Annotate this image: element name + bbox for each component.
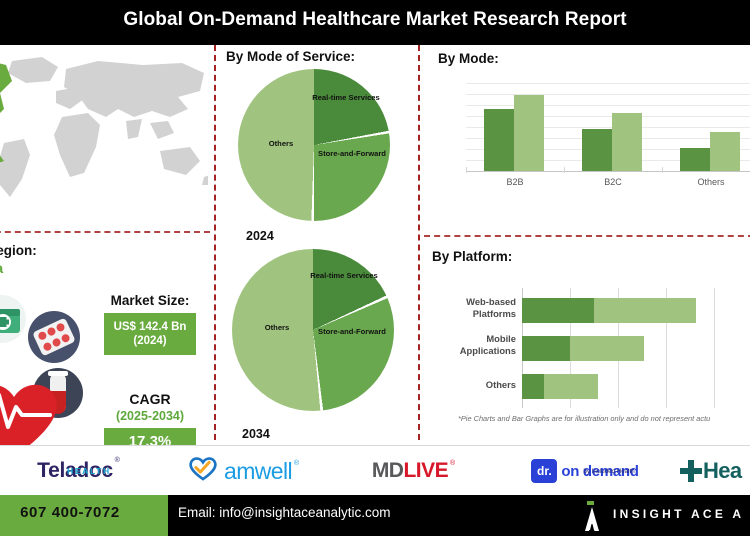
platform-category-label: Web-based Platforms [438, 296, 516, 320]
first-aid-kit-icon [0, 295, 26, 343]
pie-2024-year: 2024 [246, 229, 274, 243]
bar-section-title: By Mode: [438, 51, 499, 66]
platform-category-label: Others [438, 379, 516, 391]
header-bar: Global On-Demand Healthcare Market Resea… [0, 0, 750, 45]
pie-section-title: By Mode of Service: [226, 49, 355, 64]
hbar-mobile-series1 [522, 336, 570, 361]
pie-2034-label-realtime: Real-time Services [306, 271, 382, 281]
divider-vertical-right [418, 45, 420, 440]
pie-2024-label-others: Others [252, 139, 310, 149]
teladoc-logo: Teladoc ® HEALTH [0, 446, 150, 496]
amwell-logo: amwell ® [150, 446, 330, 496]
axis-tick [662, 167, 663, 173]
market-size-value: US$ 142.4 Bn [114, 320, 187, 334]
gridline [466, 83, 750, 84]
region-name: merica [0, 260, 3, 276]
dr-badge-icon: dr. [531, 459, 557, 483]
amwell-wordmark: amwell [224, 458, 292, 484]
platform-section-title: By Platform: [432, 249, 512, 264]
registered-mark-icon: ® [450, 460, 455, 467]
included-health-sub: by Included Health [583, 468, 634, 475]
x-axis-line [466, 171, 750, 172]
bar-b2b-series1 [484, 109, 514, 171]
market-size-badge: US$ 142.4 Bn (2024) [104, 313, 196, 355]
pie-2024-label-realtime: Real-time Services [308, 93, 384, 103]
market-size-heading: Market Size: [96, 293, 204, 308]
healthtap-wordmark: Hea [703, 458, 742, 484]
mdlive-md-text: MD [372, 459, 404, 482]
chart-footnote-text: *Pie Charts and Bar Graphs are for illus… [458, 414, 710, 423]
hbar-others-series2 [544, 374, 598, 399]
dr-on-demand-logo: dr. on demand by Included Health [490, 446, 680, 496]
mdlive-logo: MDLIVE ® [330, 446, 490, 496]
hbar-others-series1 [522, 374, 544, 399]
client-logo-strip: Teladoc ® HEALTH amwell ® MDLIVE ® [0, 445, 750, 496]
bar-chart-by-platform [522, 288, 750, 408]
pie-2034-year: 2034 [242, 427, 270, 441]
bar-category-label: B2B [480, 177, 550, 187]
axis-tick [564, 167, 565, 173]
bar-others-series2 [710, 132, 740, 171]
bar-others-series1 [680, 148, 710, 171]
footer-phone: 607 400-7072 [0, 504, 170, 521]
infographic-page: Global On-Demand Healthcare Market Resea… [0, 0, 750, 536]
gridline [714, 288, 715, 408]
pill-blister-icon [28, 311, 80, 363]
bar-chart-by-mode: B2B B2C Others [466, 83, 750, 171]
mdlive-live-text: LIVE [403, 459, 448, 482]
cagr-years: (2025-2034) [96, 409, 204, 423]
hbar-mobile-series2 [570, 336, 644, 361]
amwell-heart-check-icon [188, 455, 218, 487]
bar-b2b-series2 [514, 95, 544, 171]
cagr-heading: CAGR [96, 391, 204, 407]
world-map-icon [0, 51, 208, 201]
axis-tick [466, 167, 467, 173]
bar-category-label: B2C [578, 177, 648, 187]
insight-ace-logo-icon [581, 501, 603, 531]
footer-brand-name: INSIGHT ACE A [613, 507, 744, 521]
divider-horizontal-right [424, 235, 750, 237]
content-area: wing Region: merica [0, 45, 750, 445]
teladoc-health-sub: HEALTH [67, 466, 111, 476]
footer-bar: 607 400-7072 Email: info@insightaceanaly… [0, 495, 750, 536]
divider-horizontal-left [0, 231, 210, 233]
hbar-web-series2 [594, 298, 696, 323]
registered-mark-icon: ® [115, 457, 120, 464]
gridline [466, 94, 750, 95]
platform-category-label: Mobile Applications [438, 333, 516, 357]
pie-2024-label-store: Store-and-Forward [318, 149, 384, 159]
hbar-web-based [522, 298, 696, 323]
gridline [466, 105, 750, 106]
pie-2034-label-store: Store-and-Forward [318, 327, 384, 337]
hbar-web-series1 [522, 298, 594, 323]
bar-b2c-series2 [612, 113, 642, 171]
region-heading: wing Region: [0, 243, 37, 258]
market-size-year: (2024) [133, 334, 166, 348]
hbar-mobile [522, 336, 644, 361]
pie-2034-label-others: Others [248, 323, 306, 333]
teal-plus-icon [680, 460, 702, 482]
registered-mark-icon: ® [294, 460, 299, 467]
hbar-others [522, 374, 598, 399]
bar-category-label: Others [676, 177, 746, 187]
page-title: Global On-Demand Healthcare Market Resea… [0, 9, 750, 31]
divider-vertical-left [214, 45, 216, 440]
healthtap-logo: Hea [680, 446, 750, 496]
footer-email[interactable]: Email: info@insightaceanalytic.com [178, 505, 391, 520]
bar-b2c-series1 [582, 129, 612, 171]
